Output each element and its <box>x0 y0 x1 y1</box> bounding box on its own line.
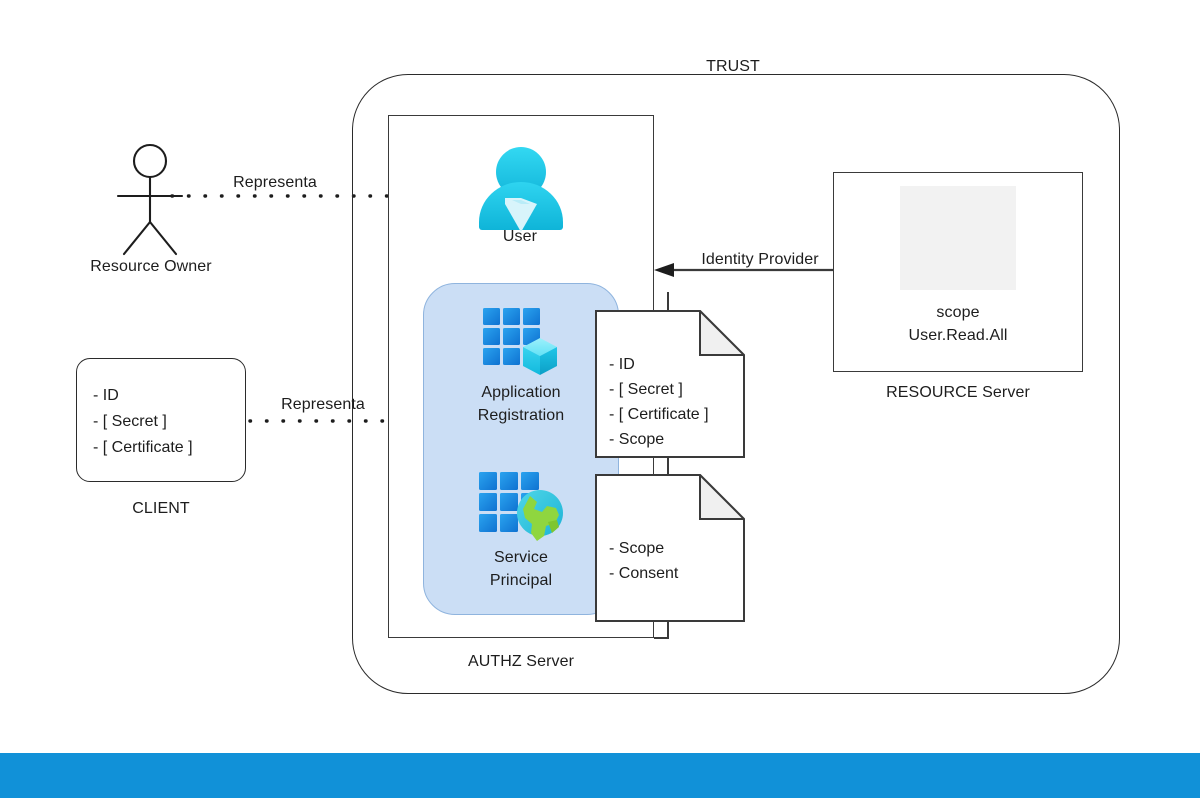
client-box: - ID - [ Secret ] - [ Certificate ] <box>76 358 246 482</box>
client-credential-items: - ID - [ Secret ] - [ Certificate ] <box>93 383 193 461</box>
footer-bar <box>0 753 1200 798</box>
resource-scope-text: scope User.Read.All <box>833 301 1083 347</box>
graph-icon-plate <box>900 186 1016 290</box>
client-label: CLIENT <box>76 498 246 519</box>
authz-server-label: AUTHZ Server <box>388 651 654 672</box>
stick-figure-icon <box>118 145 182 254</box>
user-label: User <box>440 226 600 247</box>
note-service-principal-items: - Scope - Consent <box>609 536 678 586</box>
resource-server-label: RESOURCE Server <box>833 382 1083 403</box>
note-service-principal: - Scope - Consent <box>595 474 745 622</box>
note-application-registration: - ID - [ Secret ] - [ Certificate ] - Sc… <box>595 310 745 458</box>
resource-owner-label: Resource Owner <box>56 256 246 277</box>
connector-label-represents-app: Representa <box>238 394 408 415</box>
application-registration-label: Application Registration <box>430 381 612 427</box>
service-principal-label: Service Principal <box>430 546 612 592</box>
trust-label: TRUST <box>0 56 1200 77</box>
identity-provider-label: Identity Provider <box>660 249 860 270</box>
diagram-canvas: TRUST AUTHZ Server <box>0 0 1200 798</box>
connector-label-represents-user: Representa <box>185 172 365 193</box>
note-application-registration-items: - ID - [ Secret ] - [ Certificate ] - Sc… <box>609 352 709 452</box>
